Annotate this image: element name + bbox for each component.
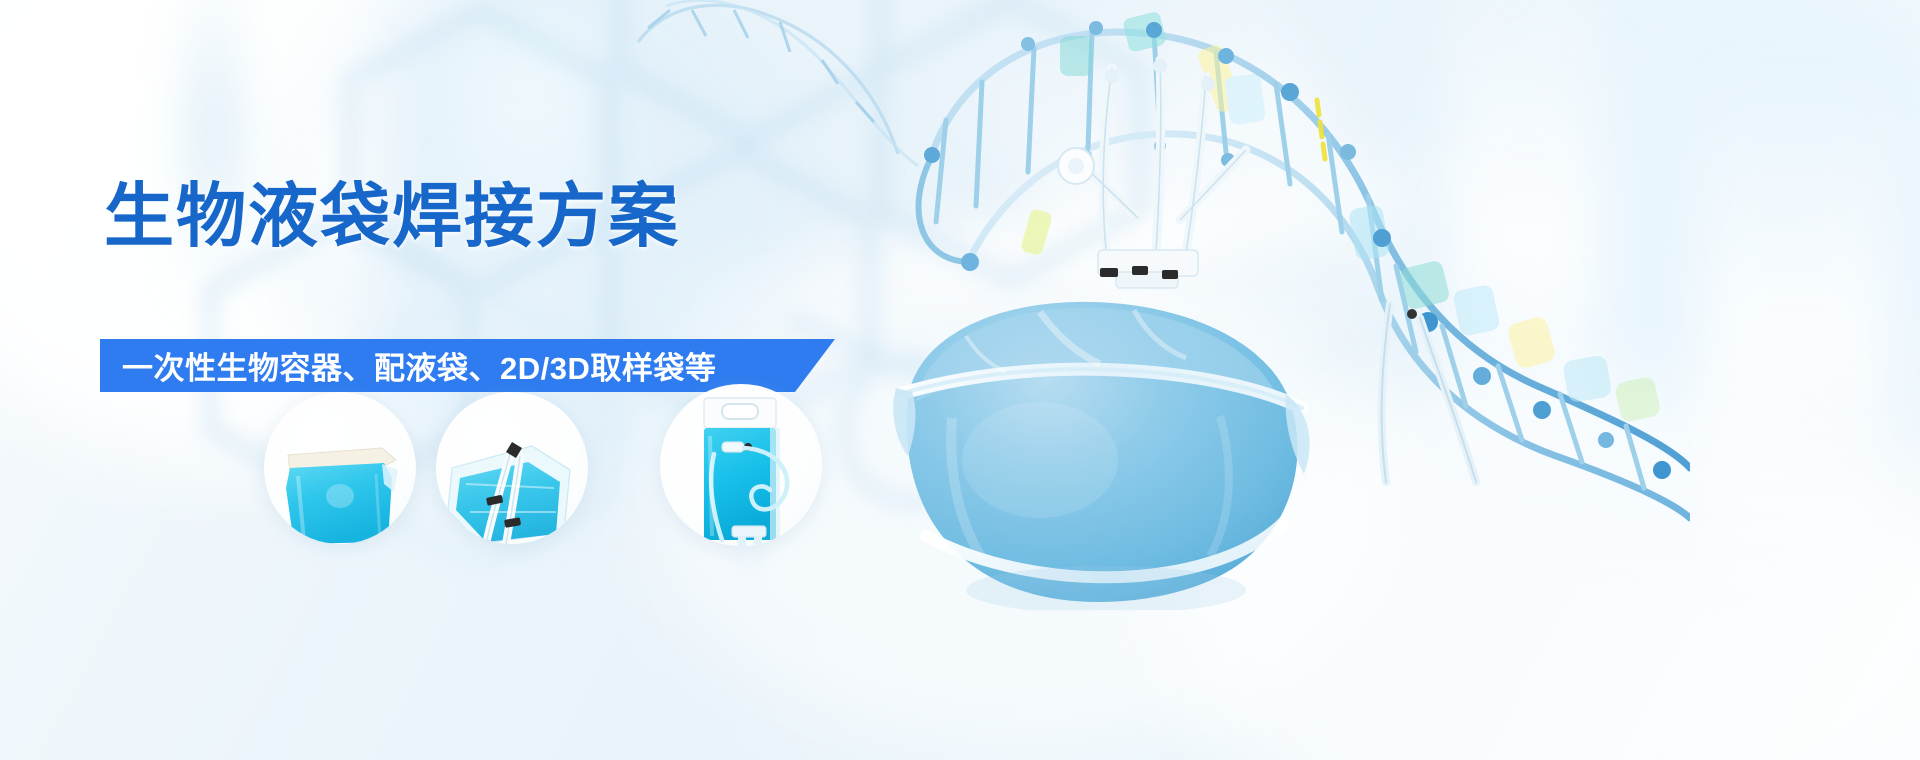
bioreactor-bag-illustration [890, 290, 1320, 610]
hero-banner: 生物液袋焊接方案 一次性生物容器、配液袋、2D/3D取样袋等 [0, 0, 1920, 760]
lab-column-6 [1700, 60, 1890, 620]
tubed-liquid-bag-icon [436, 392, 588, 544]
subtitle-banner: 一次性生物容器、配液袋、2D/3D取样袋等 [100, 339, 835, 392]
page-title: 生物液袋焊接方案 [104, 176, 680, 257]
lab-column-5 [1450, 0, 1600, 520]
product-circle-1[interactable] [264, 392, 416, 544]
lab-blur-d [1380, 0, 1920, 540]
product-circle-2[interactable] [436, 392, 588, 544]
subtitle-text: 一次性生物容器、配液袋、2D/3D取样袋等 [122, 343, 716, 388]
flat-liquid-bag-icon [264, 392, 416, 544]
bag-port-manifold-icon [1020, 54, 1320, 324]
handled-liquid-bag-icon [660, 384, 822, 546]
product-circle-3[interactable] [660, 384, 822, 546]
